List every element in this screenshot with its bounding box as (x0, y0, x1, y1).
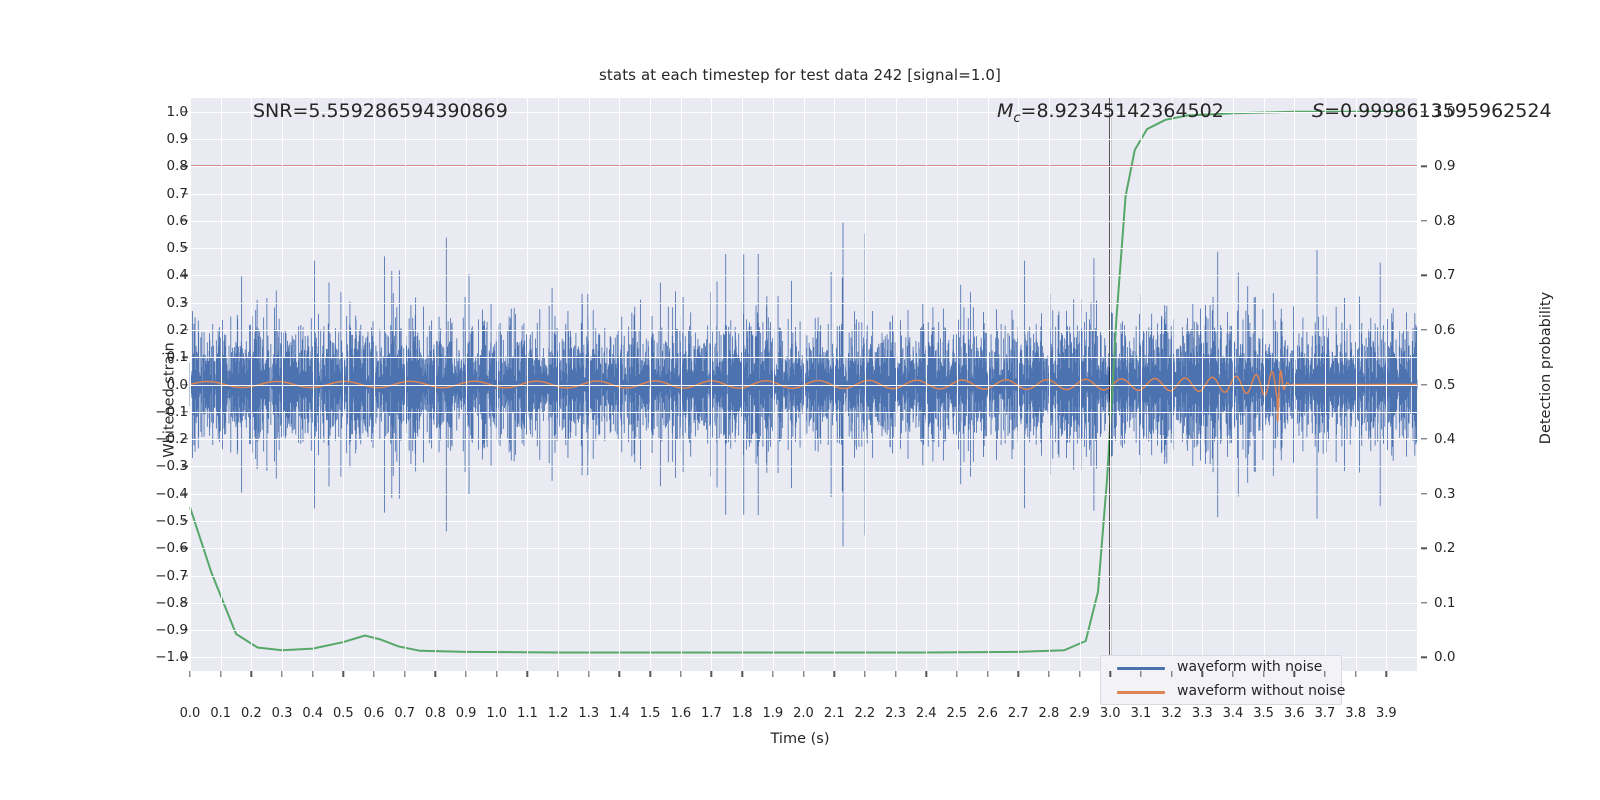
x-tick-label: 1.6 (670, 706, 691, 721)
y-tick-mark-right (1421, 166, 1427, 167)
x-tick-label: 2.2 (855, 706, 876, 721)
y-tick-mark-right (1421, 657, 1427, 658)
gridline-vertical (1294, 98, 1295, 671)
x-tick-mark (465, 671, 466, 677)
y-tick-label-right: 0.0 (1434, 649, 1494, 665)
legend-label-chirp: waveform without noise (1177, 683, 1345, 699)
x-tick-mark (772, 671, 773, 677)
y-tick-mark-right (1421, 602, 1427, 603)
annotation-score: S=0.9998613595962524 (1312, 100, 1552, 122)
x-tick-label: 1.3 (578, 706, 599, 721)
y-tick-mark-right (1421, 548, 1427, 549)
y-tick-label-left: −0.7 (128, 568, 188, 584)
x-tick-label: 2.5 (947, 706, 968, 721)
gridline-vertical (1141, 98, 1142, 671)
x-tick-label: 0.6 (364, 706, 385, 721)
gridline-vertical (957, 98, 958, 671)
x-axis-label: Time (s) (0, 731, 1600, 747)
gridline-vertical (988, 98, 989, 671)
x-tick-mark (1140, 671, 1141, 677)
annotation-s-equals: = (1324, 100, 1340, 122)
y-tick-label-left: 1.0 (128, 104, 188, 120)
y-tick-mark-right (1421, 220, 1427, 221)
x-tick-mark (588, 671, 589, 677)
x-tick-mark (1355, 671, 1356, 677)
gridline-vertical (1018, 98, 1019, 671)
x-tick-mark (895, 671, 896, 677)
y-tick-label-right: 0.7 (1434, 267, 1494, 283)
y-tick-label-right: 1.0 (1434, 104, 1494, 120)
y-tick-label-left: 0.7 (128, 186, 188, 202)
gridline-vertical (282, 98, 283, 671)
gridline-vertical (1264, 98, 1265, 671)
x-tick-label: 3.7 (1315, 706, 1336, 721)
y-tick-label-right: 0.4 (1434, 431, 1494, 447)
x-tick-mark (1110, 671, 1111, 677)
x-tick-mark (189, 671, 190, 677)
y-tick-label-right: 0.3 (1434, 486, 1494, 502)
x-tick-mark (557, 671, 558, 677)
plot-area (190, 98, 1417, 671)
legend-entry-waveform-without-noise: waveform without noise (1101, 680, 1341, 704)
y-tick-label-left: 0.1 (128, 349, 188, 365)
y-tick-label-right: 0.2 (1434, 540, 1494, 556)
y-tick-label-left: 0.2 (128, 322, 188, 338)
x-tick-mark (925, 671, 926, 677)
annotation-snr-text: SNR= (253, 100, 308, 122)
x-tick-label: 3.4 (1223, 706, 1244, 721)
y-tick-mark-right (1421, 438, 1427, 439)
gridline-vertical (1233, 98, 1234, 671)
gridline-vertical (1325, 98, 1326, 671)
x-tick-mark (1386, 671, 1387, 677)
y-tick-label-left: −0.5 (128, 513, 188, 529)
x-tick-mark (833, 671, 834, 677)
y-tick-label-left: −0.8 (128, 595, 188, 611)
y-tick-label-right: 0.9 (1434, 158, 1494, 174)
x-tick-label: 1.2 (548, 706, 569, 721)
y-tick-label-right: 0.8 (1434, 213, 1494, 229)
y-tick-label-left: −0.2 (128, 431, 188, 447)
y-tick-label-right: 0.6 (1434, 322, 1494, 338)
x-tick-mark (1202, 671, 1203, 677)
y-tick-label-left: 0.4 (128, 267, 188, 283)
x-tick-mark (496, 671, 497, 677)
x-tick-label: 1.5 (640, 706, 661, 721)
x-tick-mark (435, 671, 436, 677)
y-tick-label-left: −0.3 (128, 458, 188, 474)
gridline-vertical (343, 98, 344, 671)
x-tick-mark (1018, 671, 1019, 677)
gridline-vertical (1356, 98, 1357, 671)
x-tick-mark (741, 671, 742, 677)
x-tick-mark (1294, 671, 1295, 677)
x-tick-label: 1.1 (517, 706, 538, 721)
gridline-vertical (1049, 98, 1050, 671)
x-tick-label: 0.2 (241, 706, 262, 721)
x-tick-label: 3.6 (1284, 706, 1305, 721)
x-tick-mark (680, 671, 681, 677)
x-tick-mark (404, 671, 405, 677)
gridline-vertical (1080, 98, 1081, 671)
legend-label-noise: waveform with noise (1177, 659, 1322, 675)
gridline-vertical (1110, 98, 1111, 671)
x-tick-mark (1079, 671, 1080, 677)
gridline-vertical (1386, 98, 1387, 671)
x-tick-label: 2.1 (824, 706, 845, 721)
annotation-chirp-mass: Mc=8.92345142364502 (997, 100, 1224, 126)
x-tick-mark (1263, 671, 1264, 677)
x-tick-label: 2.0 (793, 706, 814, 721)
y-tick-label-left: 0.6 (128, 213, 188, 229)
gridline-vertical (865, 98, 866, 671)
annotation-mc-subscript: c (1013, 111, 1020, 126)
y-tick-label-right: 0.5 (1434, 377, 1494, 393)
x-tick-mark (619, 671, 620, 677)
x-tick-mark (312, 671, 313, 677)
x-tick-mark (343, 671, 344, 677)
annotation-mc-value: 8.92345142364502 (1036, 100, 1223, 122)
x-tick-label: 0.9 (456, 706, 477, 721)
x-tick-mark (281, 671, 282, 677)
legend-swatch-chirp (1117, 691, 1165, 694)
x-tick-label: 3.0 (1100, 706, 1121, 721)
gridline-vertical (681, 98, 682, 671)
x-tick-label: 2.7 (1008, 706, 1029, 721)
x-tick-label: 1.8 (732, 706, 753, 721)
gridline-vertical (313, 98, 314, 671)
x-tick-mark (864, 671, 865, 677)
x-tick-label: 1.0 (486, 706, 507, 721)
gridline-vertical (834, 98, 835, 671)
gridline-vertical (497, 98, 498, 671)
gridline-vertical (589, 98, 590, 671)
y-tick-label-left: −0.9 (128, 622, 188, 638)
x-tick-mark (251, 671, 252, 677)
gridline-vertical (773, 98, 774, 671)
y-tick-mark-right (1421, 275, 1427, 276)
gridline-vertical (435, 98, 436, 671)
x-tick-mark (649, 671, 650, 677)
figure-canvas: stats at each timestep for test data 242… (0, 0, 1600, 800)
x-tick-label: 2.9 (1069, 706, 1090, 721)
gridline-vertical (374, 98, 375, 671)
y-tick-label-left: −0.4 (128, 486, 188, 502)
annotation-mc-equals: = (1021, 100, 1037, 122)
x-tick-mark (220, 671, 221, 677)
x-tick-label: 1.9 (762, 706, 783, 721)
y-tick-mark-right (1421, 111, 1427, 112)
gridline-vertical (558, 98, 559, 671)
y-tick-label-left: 0.3 (128, 295, 188, 311)
x-tick-label: 0.5 (333, 706, 354, 721)
x-tick-mark (987, 671, 988, 677)
annotation-snr: SNR=5.559286594390869 (253, 100, 508, 122)
gridline-vertical (221, 98, 222, 671)
x-tick-mark (711, 671, 712, 677)
gridline-vertical (926, 98, 927, 671)
y-tick-mark-right (1421, 329, 1427, 330)
gridline-vertical (1202, 98, 1203, 671)
y-tick-mark-right (1421, 493, 1427, 494)
y-tick-label-left: 0.5 (128, 240, 188, 256)
legend-entry-waveform-with-noise: waveform with noise (1101, 656, 1341, 680)
gridline-vertical (650, 98, 651, 671)
annotation-mc-symbol: M (997, 100, 1013, 122)
x-tick-label: 1.7 (701, 706, 722, 721)
y-axis-label-right: Detection probability (1538, 292, 1554, 444)
annotation-s-symbol: S (1312, 100, 1324, 122)
x-tick-label: 1.4 (609, 706, 630, 721)
x-tick-label: 3.5 (1253, 706, 1274, 721)
x-tick-mark (1048, 671, 1049, 677)
y-tick-mark-right (1421, 384, 1427, 385)
x-tick-mark (956, 671, 957, 677)
gridline-vertical (711, 98, 712, 671)
x-tick-label: 0.4 (302, 706, 323, 721)
x-tick-label: 0.0 (180, 706, 201, 721)
x-tick-mark (1171, 671, 1172, 677)
chart-title: stats at each timestep for test data 242… (0, 66, 1600, 84)
gridline-vertical (804, 98, 805, 671)
x-tick-label: 2.8 (1039, 706, 1060, 721)
x-tick-label: 0.8 (425, 706, 446, 721)
x-tick-label: 3.8 (1345, 706, 1366, 721)
x-tick-label: 3.9 (1376, 706, 1397, 721)
x-tick-mark (1232, 671, 1233, 677)
annotation-snr-value: 5.559286594390869 (308, 100, 507, 122)
gridline-vertical (405, 98, 406, 671)
gridline-vertical (251, 98, 252, 671)
x-tick-label: 0.1 (210, 706, 231, 721)
x-tick-mark (803, 671, 804, 677)
y-tick-label-left: −1.0 (128, 649, 188, 665)
x-tick-mark (373, 671, 374, 677)
chart-legend: waveform with noise waveform without noi… (1100, 655, 1342, 705)
legend-swatch-noise (1117, 667, 1165, 670)
gridline-vertical (896, 98, 897, 671)
gridline-vertical (619, 98, 620, 671)
gridline-vertical (466, 98, 467, 671)
x-tick-mark (1324, 671, 1325, 677)
x-tick-label: 2.3 (885, 706, 906, 721)
y-tick-label-left: 0.0 (128, 377, 188, 393)
x-tick-mark (527, 671, 528, 677)
y-tick-label-left: −0.6 (128, 540, 188, 556)
x-tick-label: 0.3 (272, 706, 293, 721)
y-tick-label-right: 0.1 (1434, 595, 1494, 611)
gridline-vertical (527, 98, 528, 671)
x-tick-label: 2.4 (916, 706, 937, 721)
x-tick-label: 3.2 (1161, 706, 1182, 721)
x-tick-label: 0.7 (394, 706, 415, 721)
y-tick-label-left: 0.9 (128, 131, 188, 147)
gridline-vertical (742, 98, 743, 671)
x-tick-label: 3.3 (1192, 706, 1213, 721)
y-tick-label-left: 0.8 (128, 158, 188, 174)
x-tick-label: 2.6 (977, 706, 998, 721)
gridline-vertical (1172, 98, 1173, 671)
gridline-vertical (190, 98, 191, 671)
y-tick-label-left: −0.1 (128, 404, 188, 420)
x-tick-label: 3.1 (1131, 706, 1152, 721)
